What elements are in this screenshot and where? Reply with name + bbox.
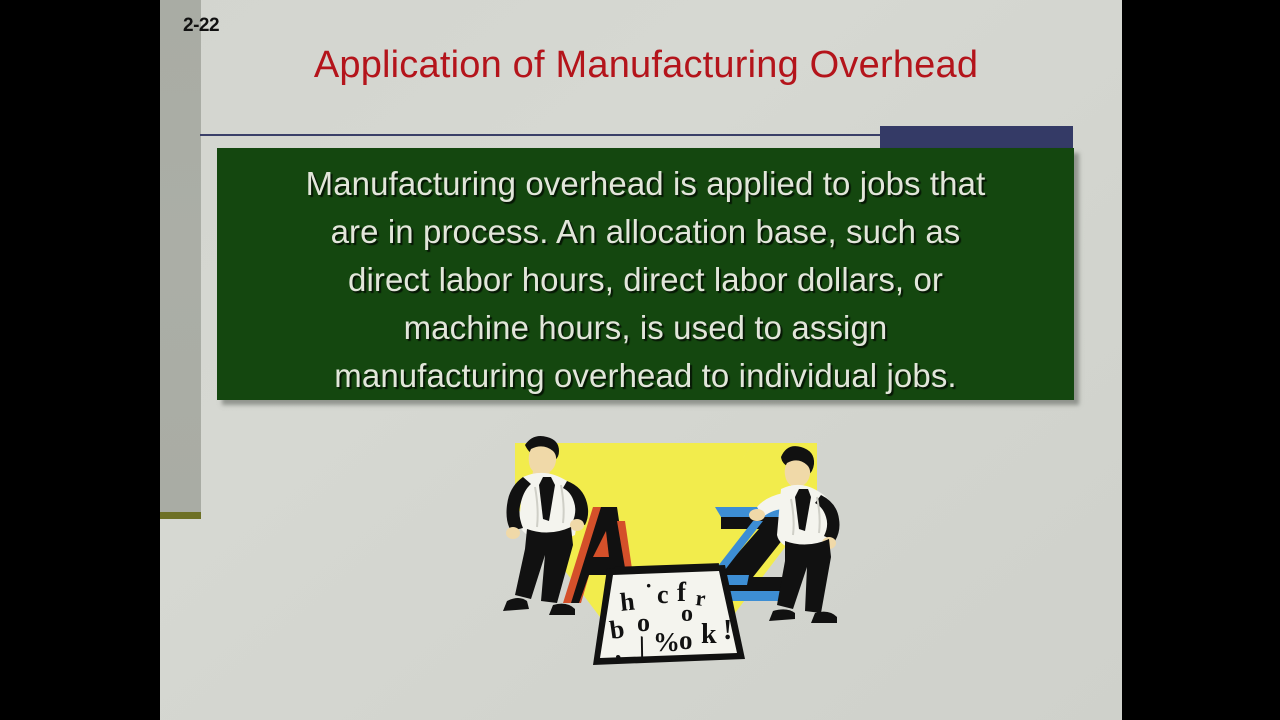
body-line: direct labor hours, direct labor dollars… [235, 256, 1056, 304]
page-title: Application of Manufacturing Overhead [201, 44, 1091, 87]
body-line: Manufacturing overhead is applied to job… [235, 160, 1056, 208]
svg-text:c: c [657, 580, 669, 609]
svg-text:k: k [701, 619, 717, 650]
svg-text:o: o [679, 625, 693, 655]
svg-text:%: % [653, 627, 680, 657]
a-to-z-businessmen-illustration: h · c f r b o , \ % o o k ! [485, 425, 845, 680]
body-line: are in process. An allocation base, such… [235, 208, 1056, 256]
navy-accent-block [880, 126, 1073, 150]
slide-left-accent-band-foot [160, 512, 201, 519]
body-line: machine hours, is used to assign [235, 304, 1056, 352]
slide-number: 2-22 [183, 15, 219, 37]
scattered-letters-panel: h · c f r b o , \ % o o k ! [593, 563, 745, 665]
body-text: Manufacturing overhead is applied to job… [235, 160, 1056, 400]
slide-left-accent-band [160, 0, 201, 512]
body-line: manufacturing overhead to individual job… [235, 352, 1056, 400]
body-text-box: Manufacturing overhead is applied to job… [217, 148, 1074, 400]
svg-text:,: , [615, 636, 622, 665]
svg-text:!: ! [723, 615, 732, 646]
svg-text:o: o [681, 601, 693, 627]
presentation-slide: 2-22 Application of Manufacturing Overhe… [160, 0, 1122, 720]
svg-text:·: · [645, 573, 652, 598]
video-frame: 2-22 Application of Manufacturing Overhe… [0, 0, 1280, 720]
